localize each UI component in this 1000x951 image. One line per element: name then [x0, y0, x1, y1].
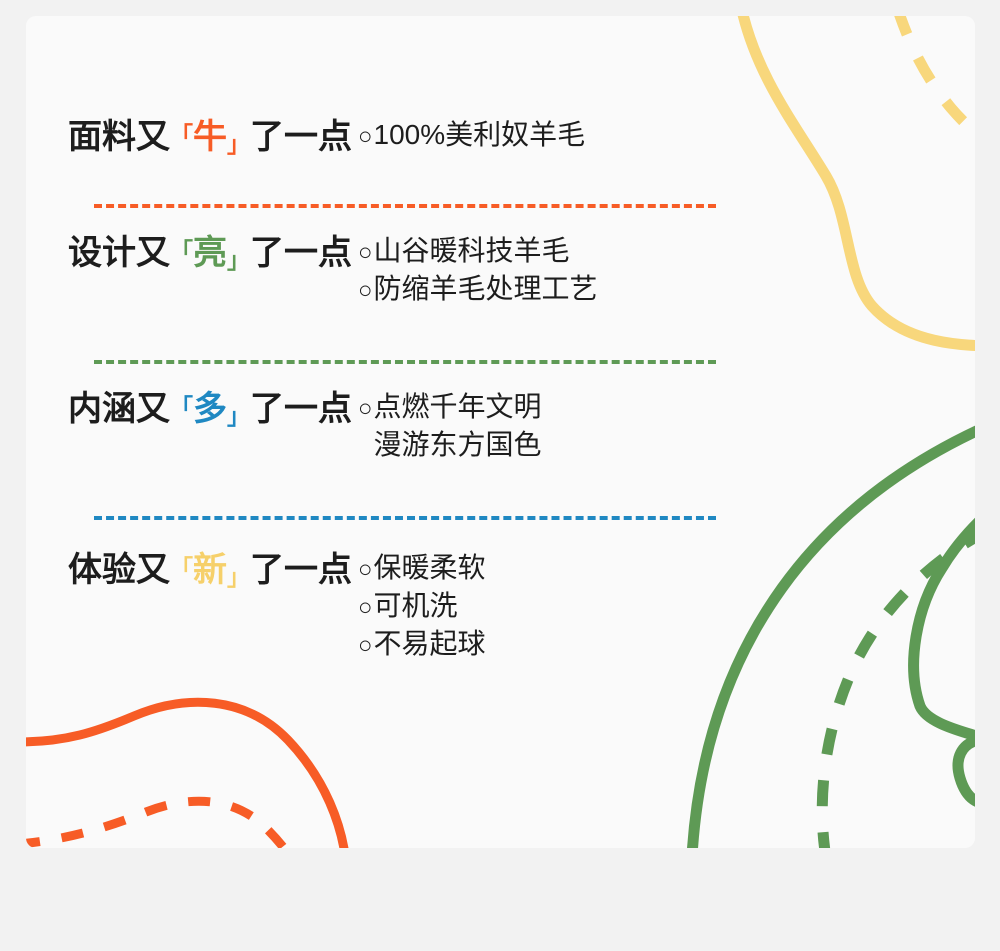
point-item: ○ 可机洗: [358, 588, 748, 626]
bracket-close: 」: [227, 131, 250, 157]
feature-points-1: ○ 100%美利奴羊毛: [358, 114, 748, 155]
feature-title-1: 面料又「牛」了一点: [68, 114, 358, 163]
feature-card: 面料又「牛」了一点 ○ 100%美利奴羊毛 设计又「亮」了一点 ○ 山谷暖科技羊…: [26, 16, 975, 848]
title-keyword: 牛: [193, 118, 227, 156]
point-item: ○ 漫游东方国色: [358, 427, 748, 465]
divider-2: [94, 360, 716, 364]
point-item: ○ 不易起球: [358, 626, 748, 664]
title-suffix: 了一点: [250, 551, 352, 589]
point-item: ○ 山谷暖科技羊毛: [358, 233, 748, 271]
circle-bullet-icon: ○: [358, 119, 373, 155]
bracket-close: 」: [227, 247, 250, 273]
point-text: 山谷暖科技羊毛: [374, 233, 570, 269]
circle-bullet-icon: ○: [358, 590, 373, 626]
point-text: 保暖柔软: [374, 550, 486, 586]
point-text: 不易起球: [374, 626, 486, 662]
point-text: 点燃千年文明: [374, 389, 542, 425]
title-prefix: 面料又: [68, 118, 170, 156]
title-prefix: 体验又: [68, 551, 170, 589]
title-prefix: 内涵又: [68, 390, 170, 428]
point-item: ○ 保暖柔软: [358, 550, 748, 588]
bracket-close: 」: [227, 403, 250, 429]
point-text: 可机洗: [374, 588, 458, 624]
title-suffix: 了一点: [250, 234, 352, 272]
feature-row-3: 内涵又「多」了一点 ○ 点燃千年文明 ○ 漫游东方国色: [68, 386, 748, 465]
feature-points-2: ○ 山谷暖科技羊毛 ○ 防缩羊毛处理工艺: [358, 230, 748, 309]
point-item: ○ 100%美利奴羊毛: [358, 117, 748, 155]
title-suffix: 了一点: [250, 390, 352, 428]
title-keyword: 新: [193, 551, 227, 589]
title-keyword: 亮: [193, 234, 227, 272]
circle-bullet-icon: ○: [358, 391, 373, 427]
feature-points-3: ○ 点燃千年文明 ○ 漫游东方国色: [358, 386, 748, 465]
point-text: 漫游东方国色: [374, 427, 542, 463]
title-keyword: 多: [193, 390, 227, 428]
feature-title-2: 设计又「亮」了一点: [68, 230, 358, 279]
point-item: ○ 防缩羊毛处理工艺: [358, 271, 748, 309]
circle-bullet-icon: ○: [358, 273, 373, 309]
circle-bullet-icon: ○: [358, 552, 373, 588]
bracket-open: 「: [170, 394, 193, 420]
bracket-open: 「: [170, 122, 193, 148]
point-item: ○ 点燃千年文明: [358, 389, 748, 427]
circle-bullet-icon: ○: [358, 628, 373, 664]
feature-row-1: 面料又「牛」了一点 ○ 100%美利奴羊毛: [68, 114, 748, 163]
feature-points-4: ○ 保暖柔软 ○ 可机洗 ○ 不易起球: [358, 547, 748, 664]
feature-row-4: 体验又「新」了一点 ○ 保暖柔软 ○ 可机洗 ○ 不易起球: [68, 547, 748, 664]
bracket-open: 「: [170, 238, 193, 264]
bracket-open: 「: [170, 555, 193, 581]
feature-rows: 面料又「牛」了一点 ○ 100%美利奴羊毛 设计又「亮」了一点 ○ 山谷暖科技羊…: [26, 16, 975, 848]
circle-bullet-icon: ○: [358, 235, 373, 271]
divider-1: [94, 204, 716, 208]
feature-row-2: 设计又「亮」了一点 ○ 山谷暖科技羊毛 ○ 防缩羊毛处理工艺: [68, 230, 748, 309]
title-prefix: 设计又: [68, 234, 170, 272]
bracket-close: 」: [227, 564, 250, 590]
point-text: 100%美利奴羊毛: [374, 117, 586, 153]
feature-title-3: 内涵又「多」了一点: [68, 386, 358, 435]
feature-title-4: 体验又「新」了一点: [68, 547, 358, 596]
point-text: 防缩羊毛处理工艺: [374, 271, 598, 307]
title-suffix: 了一点: [250, 118, 352, 156]
divider-3: [94, 516, 716, 520]
